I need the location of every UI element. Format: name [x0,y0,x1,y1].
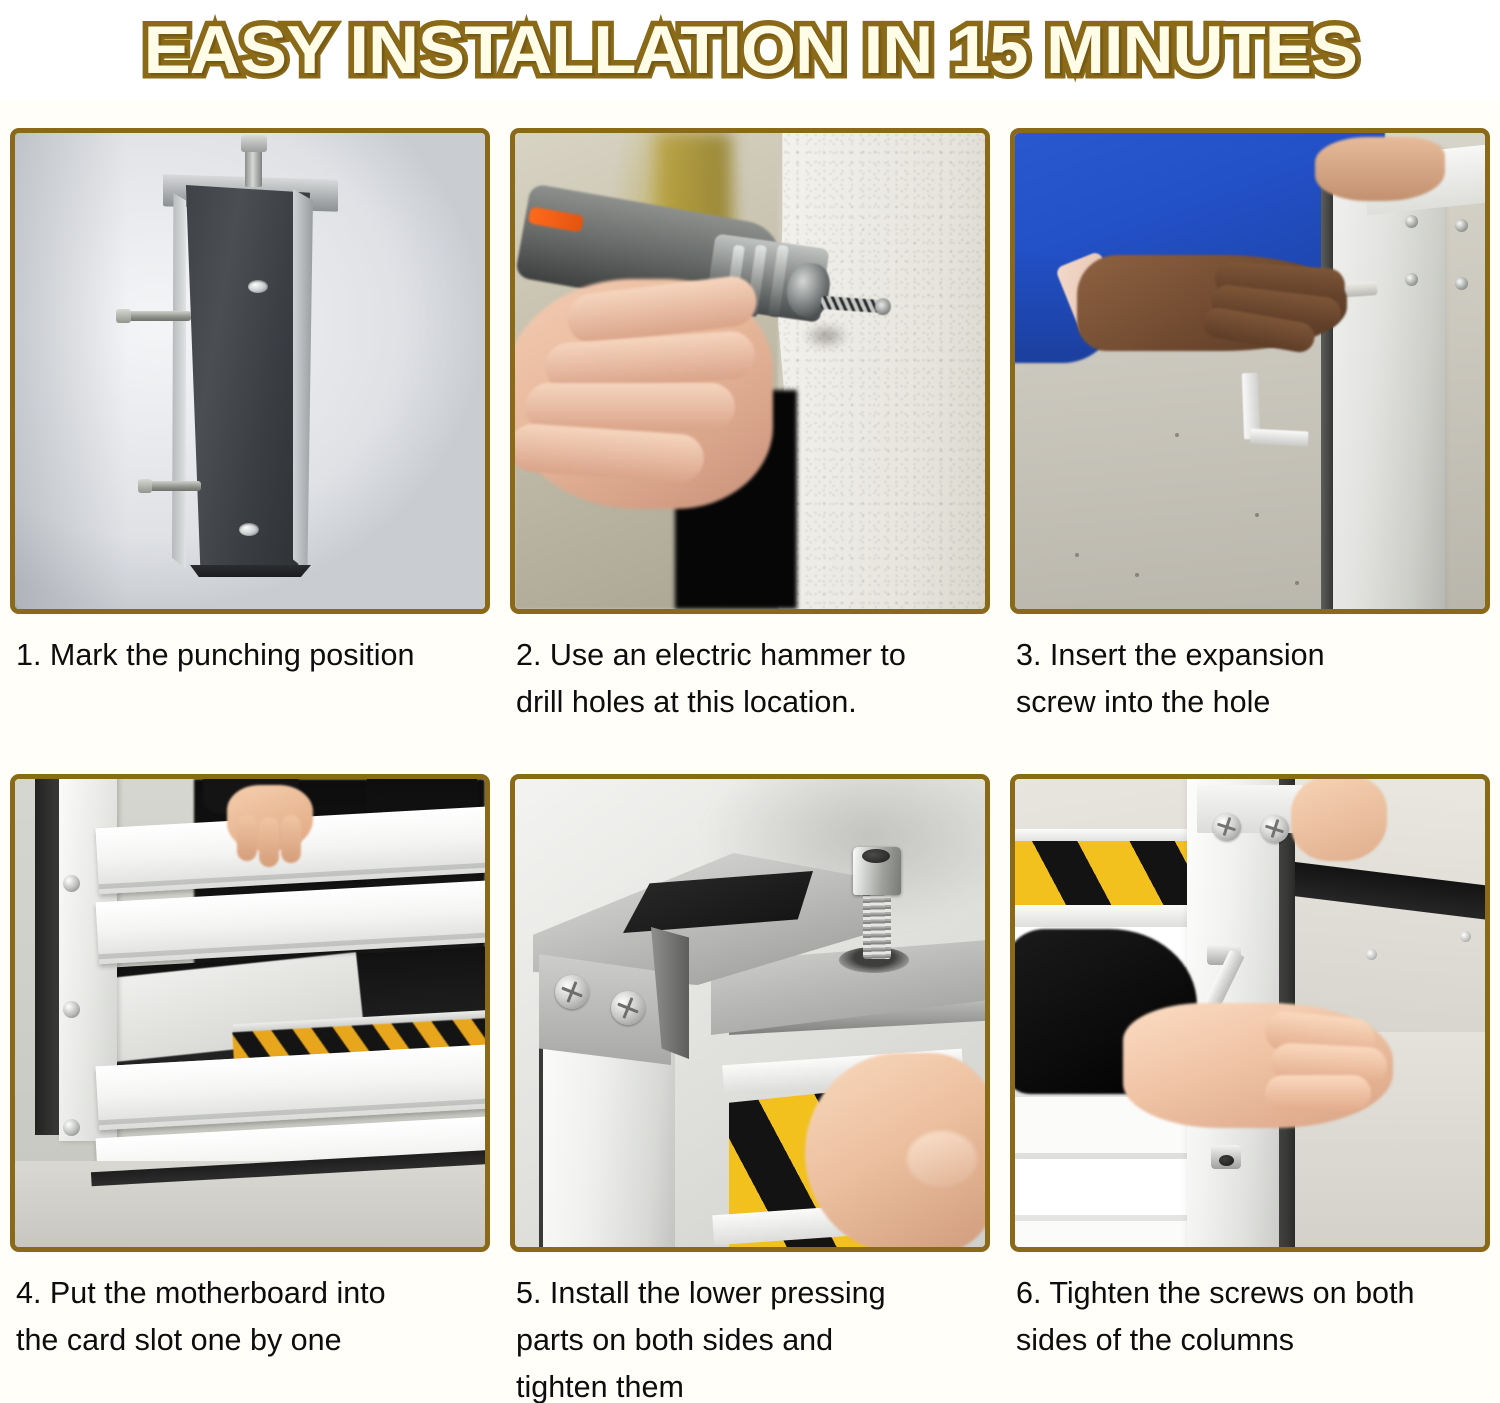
column-screw [63,1001,80,1018]
column-screw [1405,215,1418,228]
step-caption-1: 1. Mark the punching position [10,614,490,756]
step-image-frame-5 [510,774,990,1252]
step-card-3: 3. Insert the expansion screw into the h… [1010,128,1490,756]
column-screw [63,875,80,892]
textured-wall [778,133,985,609]
step-image-frame-3 [1010,128,1490,614]
phillips-screw [555,975,589,1009]
floor-speck [1075,553,1079,557]
column-screw [63,1119,80,1136]
steps-grid: 1. Mark the punching position [10,128,1492,1392]
column-screw [1455,219,1468,232]
skirting-screw [1460,931,1471,942]
step-card-5: 5. Install the lower pressing parts on b… [510,774,990,1392]
step-image-1 [15,133,485,609]
finger-3 [1265,1075,1371,1111]
step-caption-6: 6. Tighten the screws on both sides of t… [1010,1252,1490,1392]
bolt-knurled-head [853,847,901,895]
phillips-screw [1261,815,1289,843]
step-image-frame-2 [510,128,990,614]
step-caption-5: 5. Install the lower pressing parts on b… [510,1252,990,1392]
step-image-frame-4 [10,774,490,1252]
finger-1 [237,815,257,861]
bolt-threaded-shaft [863,889,891,959]
post-left-edge [172,193,186,569]
page-title: EASY INSTALLATION IN 15 MINUTES [143,13,1356,87]
white-column [1333,149,1445,609]
thumbnail [907,1131,977,1187]
second-hand [1291,779,1387,861]
step-image-5 [515,779,985,1247]
skirting-screw [1366,949,1377,960]
floor-speck [1135,573,1139,577]
expansion-stud-lower [143,481,201,491]
phillips-screw [611,991,645,1025]
step-image-6 [1015,779,1485,1247]
column-dark-edge [35,779,59,1135]
floor-speck [1295,581,1299,585]
phillips-screw [1213,813,1241,841]
expansion-stud-upper [121,311,191,321]
post-base-shadow [185,565,311,577]
floor-speck [1175,433,1179,437]
board-white-strip-bottom [1015,905,1199,927]
mounting-hole-upper [248,280,268,293]
step-card-2: 2. Use an electric hammer to drill holes… [510,128,990,756]
floor-speck [1255,513,1259,517]
step-card-1: 1. Mark the punching position [10,128,490,756]
step-image-frame-1 [10,128,490,614]
finger-2 [259,817,279,867]
step-image-3 [1015,133,1485,609]
header-banner: EASY INSTALLATION IN 15 MINUTES [0,0,1500,100]
column-screw [1455,277,1468,290]
step-card-6: 6. Tighten the screws on both sides of t… [1010,774,1490,1392]
hazard-stripe [1015,841,1193,907]
thumb-bolt [851,847,901,959]
step-caption-2: 2. Use an electric hammer to drill holes… [510,614,990,756]
step-caption-4: 4. Put the motherboard into the card slo… [10,1252,490,1392]
drill-hole-shadow [803,323,849,349]
column-screw [1405,273,1418,286]
lower-screw [1211,1145,1241,1169]
step-image-2 [515,133,985,609]
second-hand [1315,137,1445,201]
finger-3 [525,383,735,431]
step-image-4 [15,779,485,1247]
top-bolt-head [241,135,267,152]
step-card-4: 4. Put the motherboard into the card slo… [10,774,490,1392]
step-caption-3: 3. Insert the expansion screw into the h… [1010,614,1490,756]
step-image-frame-6 [1010,774,1490,1252]
finger-3 [281,815,301,863]
installation-guide-page: EASY INSTALLATION IN 15 MINUTES [0,0,1500,1403]
row-spacer [10,756,1490,774]
hex-key-on-floor [1242,373,1260,440]
cloth-shadow [15,133,165,609]
mounting-hole-lower [239,523,259,536]
